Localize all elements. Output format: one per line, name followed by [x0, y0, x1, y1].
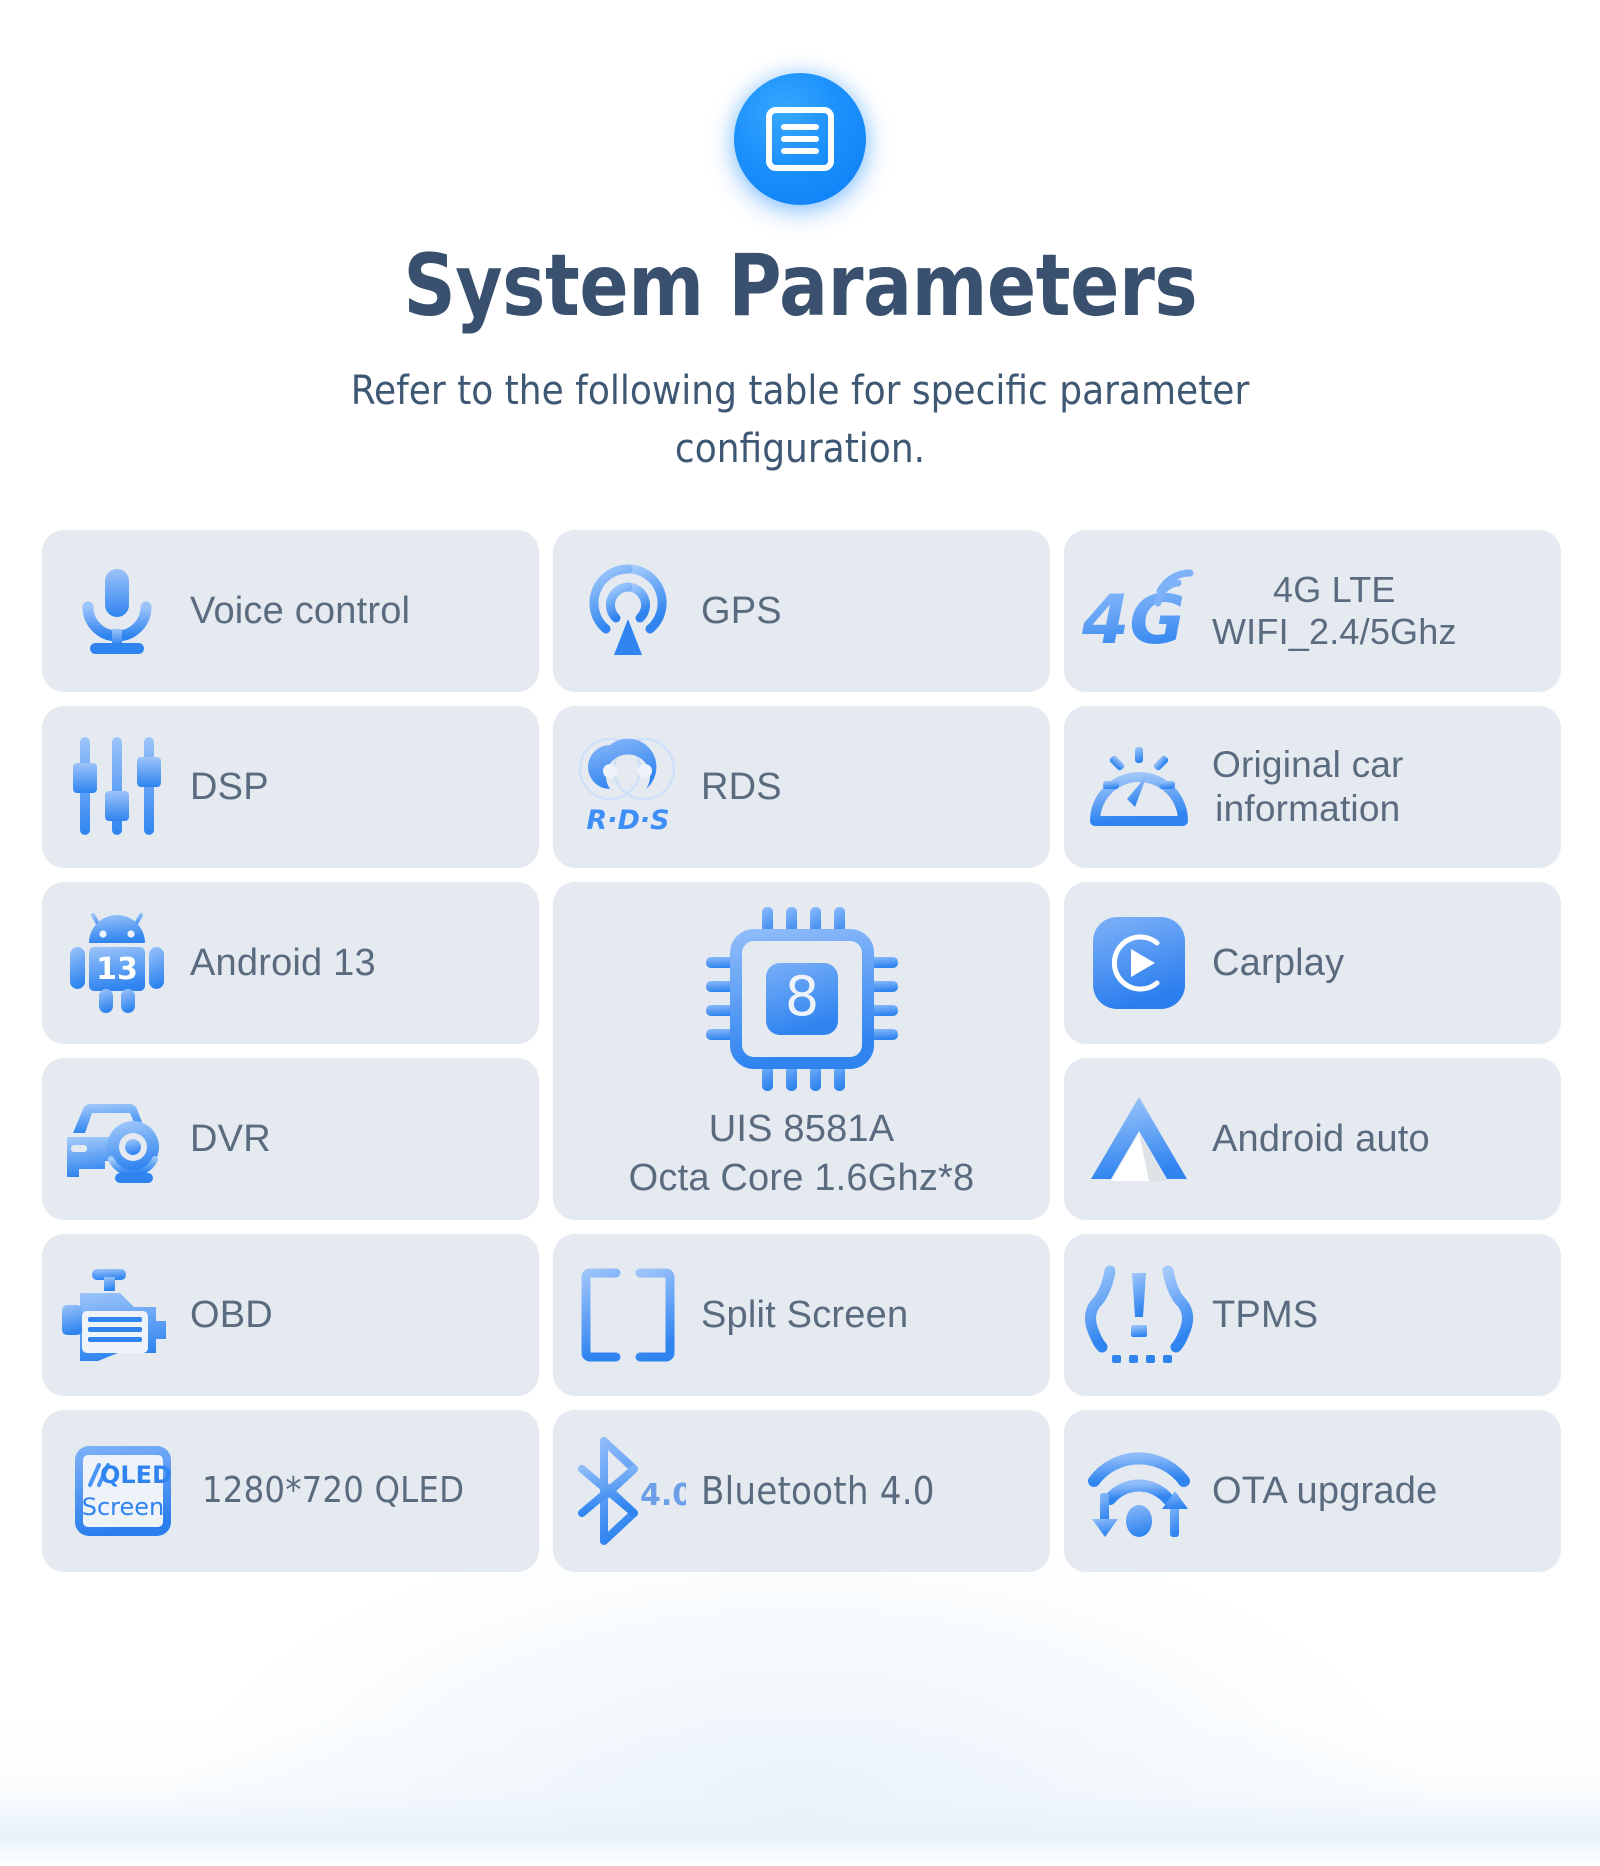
- list-document-icon: [734, 73, 866, 205]
- feature-label: RDS: [701, 765, 782, 810]
- feature-label: DVR: [190, 1117, 271, 1162]
- feature-label-line2: information: [1215, 788, 1400, 829]
- feature-label: OTA upgrade: [1212, 1469, 1437, 1514]
- feature-label: UIS 8581A Octa Core 1.6Ghz*8: [629, 1105, 975, 1202]
- feature-label-line1: UIS 8581A: [709, 1108, 895, 1150]
- feature-card-android-13[interactable]: 13 Android 13: [42, 882, 539, 1044]
- feature-card-ota-upgrade[interactable]: OTA upgrade: [1064, 1410, 1561, 1572]
- equalizer-icon: [58, 732, 176, 842]
- carplay-icon: [1080, 908, 1198, 1018]
- bluetooth-icon: 4.0: [569, 1436, 687, 1546]
- feature-label-line2: Octa Core 1.6Ghz*8: [629, 1157, 975, 1199]
- feature-card-rds[interactable]: R·D·S RDS: [553, 706, 1050, 868]
- page-subtitle: Refer to the following table for specifi…: [325, 362, 1275, 478]
- tire-pressure-icon: [1080, 1260, 1198, 1370]
- feature-card-android-auto[interactable]: Android auto: [1064, 1058, 1561, 1220]
- android-auto-icon: [1080, 1084, 1198, 1194]
- feature-card-original-car-information[interactable]: Original car information: [1064, 706, 1561, 868]
- header-icon-wrap: [725, 64, 875, 214]
- feature-grid: Voice control GPS: [40, 530, 1560, 1572]
- microphone-icon: [58, 556, 176, 666]
- bluetooth-version-badge: 4.0: [640, 1478, 686, 1513]
- feature-card-tpms[interactable]: TPMS: [1064, 1234, 1561, 1396]
- android-version-text: 13: [96, 952, 138, 987]
- feature-card-dsp[interactable]: DSP: [42, 706, 539, 868]
- footer-gradient-bar: [0, 1792, 1600, 1866]
- feature-card-dvr[interactable]: DVR: [42, 1058, 539, 1220]
- android-robot-icon: 13: [58, 908, 176, 1018]
- feature-label: Android auto: [1212, 1117, 1430, 1162]
- cpu-cores-text: 8: [784, 965, 818, 1028]
- feature-label-line2: WIFI_2.4/5Ghz: [1212, 611, 1457, 652]
- feature-label: 4G LTE WIFI_2.4/5Ghz: [1212, 569, 1457, 654]
- qled-line1-text: QLED: [100, 1461, 172, 1489]
- split-screen-icon: [569, 1260, 687, 1370]
- feature-label: Carplay: [1212, 941, 1344, 986]
- feature-label: Original car information: [1212, 743, 1404, 832]
- feature-card-qled-screen[interactable]: QLED Screen 1280*720 QLED: [42, 1410, 539, 1572]
- system-parameters-page: System Parameters Refer to the following…: [0, 0, 1600, 1866]
- ota-upgrade-icon: [1080, 1436, 1198, 1546]
- feature-card-carplay[interactable]: Carplay: [1064, 882, 1561, 1044]
- feature-label: Split Screen: [701, 1293, 908, 1338]
- feature-label: Voice control: [190, 589, 410, 634]
- gps-signal-icon: [569, 556, 687, 666]
- feature-card-4g-lte-wifi[interactable]: 4G 4G LTE WIFI_2.4/5Ghz: [1064, 530, 1561, 692]
- 4g-signal-icon: 4G: [1080, 556, 1198, 666]
- feature-label-line1: 4G LTE: [1273, 569, 1396, 610]
- feature-label: Bluetooth 4.0: [701, 1469, 935, 1514]
- cpu-chip-icon: 8: [697, 899, 907, 1099]
- rds-logo-icon: R·D·S: [569, 732, 687, 842]
- feature-label: Android 13: [190, 941, 376, 986]
- feature-card-obd[interactable]: OBD: [42, 1234, 539, 1396]
- speedometer-icon: [1080, 732, 1198, 842]
- qled-line2-text: Screen: [82, 1493, 165, 1521]
- feature-card-voice-control[interactable]: Voice control: [42, 530, 539, 692]
- feature-label: TPMS: [1212, 1293, 1318, 1338]
- engine-obd-icon: [58, 1260, 176, 1370]
- feature-label: GPS: [701, 589, 782, 634]
- page-title: System Parameters: [403, 236, 1197, 336]
- dashcam-icon: [58, 1084, 176, 1194]
- feature-label: DSP: [190, 765, 269, 810]
- feature-label: OBD: [190, 1293, 273, 1338]
- svg-text:4G: 4G: [1081, 581, 1185, 655]
- rds-wordmark: R·D·S: [586, 805, 669, 836]
- feature-card-cpu[interactable]: 8 UIS 8581A Octa Core 1.6Ghz*8: [553, 882, 1050, 1220]
- feature-card-bluetooth[interactable]: 4.0 Bluetooth 4.0: [553, 1410, 1050, 1572]
- feature-card-split-screen[interactable]: Split Screen: [553, 1234, 1050, 1396]
- feature-card-gps[interactable]: GPS: [553, 530, 1050, 692]
- feature-label-line1: Original car: [1212, 744, 1404, 785]
- qled-screen-icon: QLED Screen: [58, 1436, 188, 1546]
- feature-label: 1280*720 QLED: [202, 1470, 464, 1512]
